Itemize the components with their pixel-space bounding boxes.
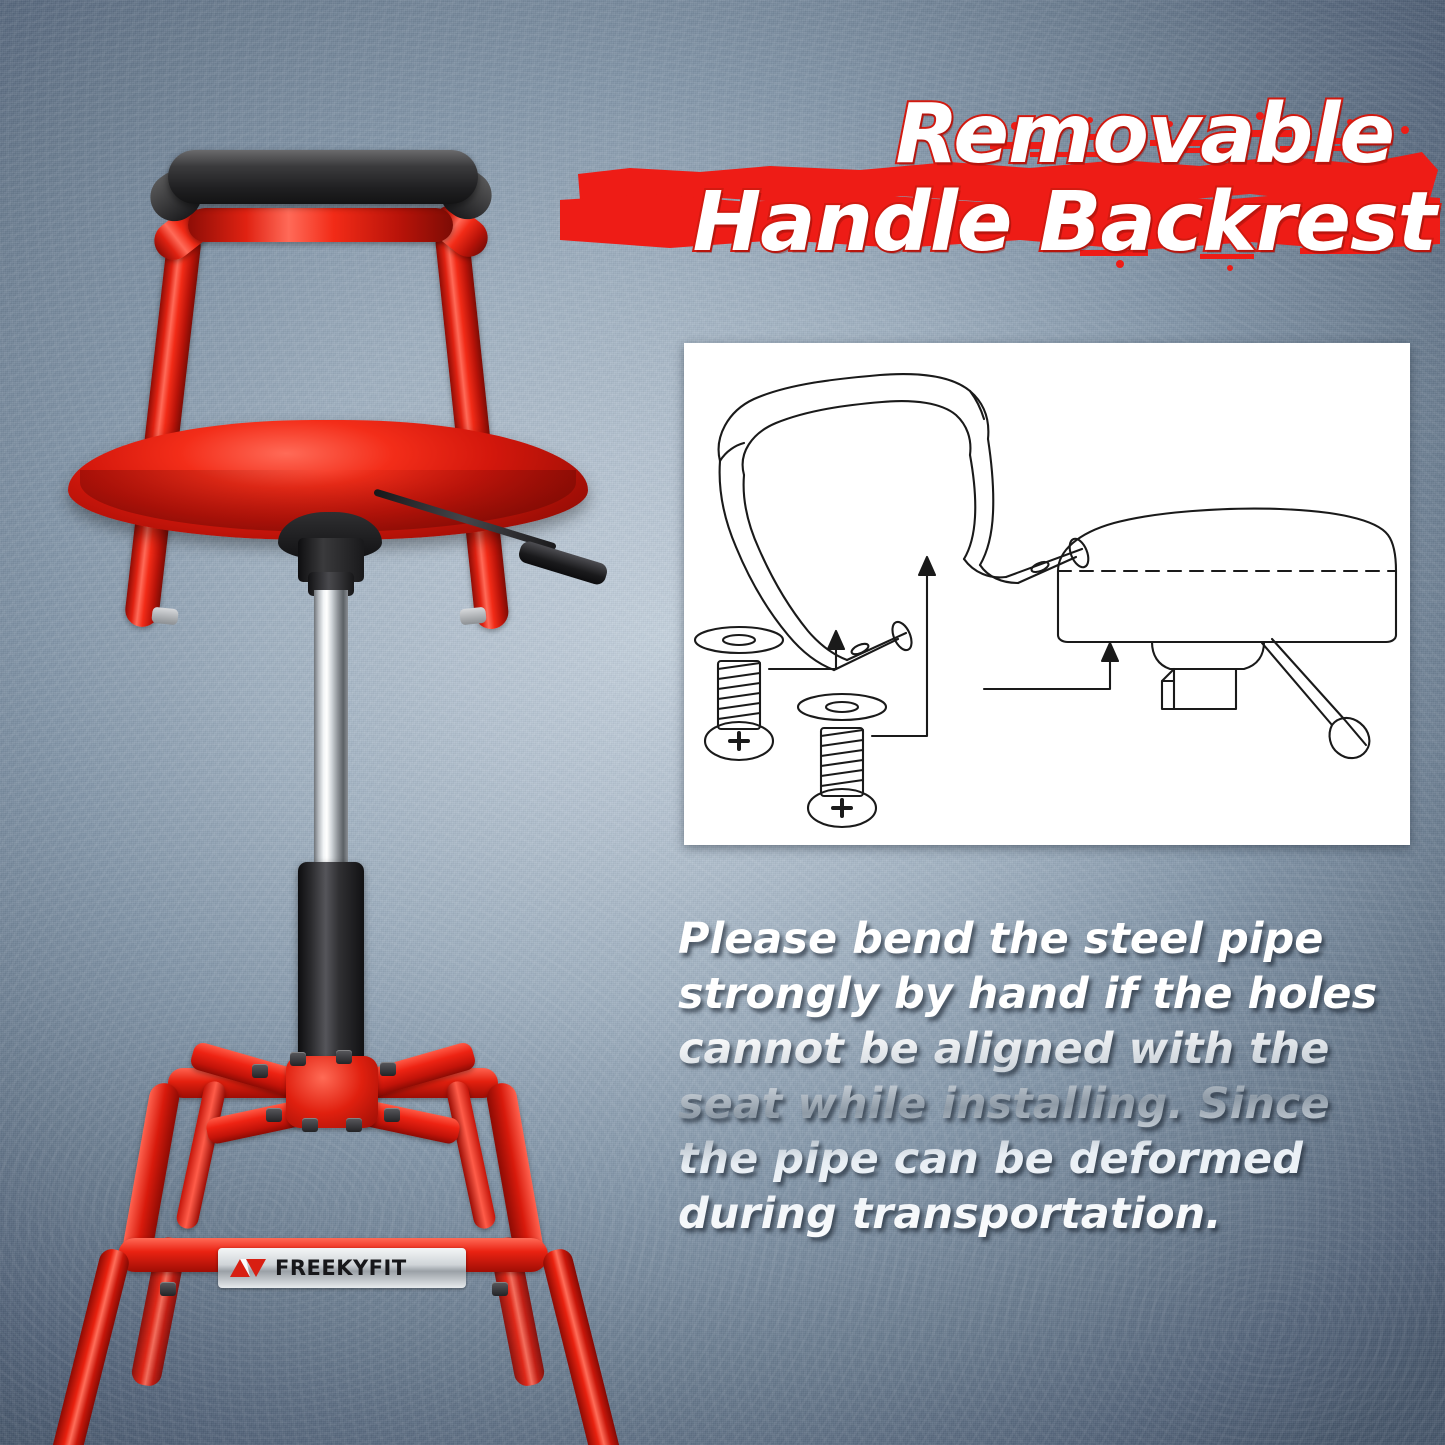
- freekyfit-logo-icon: [228, 1257, 268, 1279]
- handle-left-ferrule: [151, 607, 179, 626]
- phillips-screw-1: [705, 661, 773, 760]
- product-photo-stool: FREEKYFIT: [40, 120, 660, 1440]
- marketing-image-canvas: Removable Handle Backrest: [0, 0, 1445, 1445]
- height-adjust-lever-grip: [517, 539, 609, 586]
- hub-bolt: [380, 1062, 396, 1076]
- leg-bolt: [492, 1282, 508, 1296]
- handle-bar-lineart: [719, 374, 1092, 670]
- leg-front-left: [49, 1246, 132, 1445]
- cylinder-black-sleeve: [298, 862, 364, 1082]
- phillips-screw-2: [808, 728, 876, 827]
- mounting-block-lineart: [1152, 642, 1264, 709]
- base-center-hub: [286, 1056, 378, 1128]
- headline-line-2: Handle Backrest: [556, 182, 1440, 264]
- hub-bolt: [252, 1064, 268, 1078]
- hub-bolt: [302, 1118, 318, 1132]
- chrome-gas-cylinder: [314, 590, 348, 890]
- hub-bolt: [346, 1118, 362, 1132]
- hub-bolt: [384, 1108, 400, 1122]
- hub-bolt: [290, 1052, 306, 1066]
- instruction-paragraph: Please bend the steel pipe strongly by h…: [678, 912, 1378, 1242]
- handle-grip-pad: [168, 150, 478, 204]
- washer-icon-2: [798, 694, 886, 720]
- handle-right-ferrule: [459, 607, 487, 626]
- leg-front-right: [540, 1246, 623, 1445]
- leg-bolt: [160, 1282, 176, 1296]
- handle-crossbar: [188, 208, 453, 242]
- base-ring-left: [121, 1081, 182, 1263]
- assembly-diagram-panel: [684, 343, 1410, 845]
- brand-name: FREEKYFIT: [275, 1256, 407, 1280]
- brand-badge: FREEKYFIT: [218, 1248, 466, 1288]
- headline-block: Removable Handle Backrest: [560, 82, 1440, 272]
- seat-cushion-lineart: [1058, 509, 1396, 642]
- adjust-lever-lineart: [1262, 639, 1369, 758]
- base-ring-right: [485, 1081, 546, 1263]
- washer-icon-1: [695, 627, 783, 653]
- assembly-diagram-svg: [684, 343, 1410, 845]
- hub-bolt: [266, 1108, 282, 1122]
- assembly-arrow-1: [769, 631, 844, 669]
- handle-left-post: [123, 227, 202, 628]
- assembly-arrow-3: [984, 643, 1118, 689]
- hub-bolt: [336, 1050, 352, 1064]
- base-inner-left: [175, 1079, 228, 1230]
